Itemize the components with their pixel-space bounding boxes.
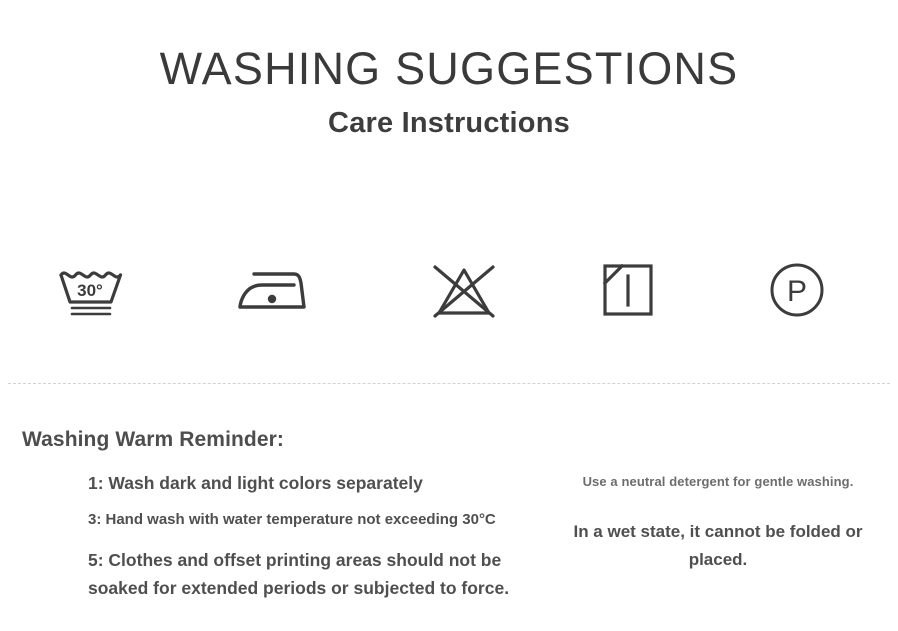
document-header: WASHING SUGGESTIONS Care Instructions bbox=[0, 0, 898, 139]
list-item: 3: Hand wash with water temperature not … bbox=[88, 512, 548, 527]
wash-30-gentle-icon: 30° bbox=[50, 248, 134, 332]
wash-temperature-label: 30° bbox=[77, 281, 103, 300]
drip-dry-in-shade-icon bbox=[586, 248, 670, 332]
reminder-tip-list: 1: Wash dark and light colors separately… bbox=[88, 475, 548, 602]
care-symbol-row: 30° bbox=[0, 248, 898, 332]
iron-dot-icon bbox=[268, 295, 276, 303]
iron-low-icon bbox=[232, 248, 316, 332]
list-item: 1: Wash dark and light colors separately bbox=[88, 475, 548, 493]
page-subtitle: Care Instructions bbox=[0, 94, 898, 140]
page-title: WASHING SUGGESTIONS bbox=[0, 0, 898, 94]
instructions-section: Washing Warm Reminder: 1: Wash dark and … bbox=[0, 420, 898, 631]
dry-clean-p-icon: P bbox=[755, 248, 839, 332]
additional-notes: Use a neutral detergent for gentle washi… bbox=[548, 475, 888, 573]
do-not-bleach-icon bbox=[422, 248, 506, 332]
section-divider bbox=[8, 383, 890, 384]
list-item: 5: Clothes and offset printing areas sho… bbox=[88, 546, 548, 603]
reminder-heading: Washing Warm Reminder: bbox=[22, 428, 284, 452]
detergent-note: Use a neutral detergent for gentle washi… bbox=[548, 475, 888, 488]
dry-clean-letter-label: P bbox=[787, 275, 807, 308]
wet-state-note: In a wet state, it cannot be folded or p… bbox=[548, 518, 888, 573]
